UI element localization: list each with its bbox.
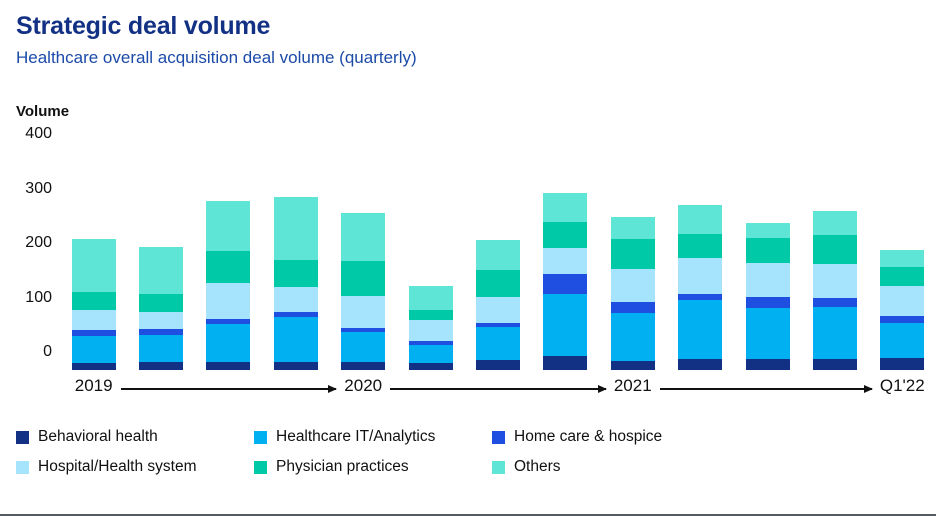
bar-segment[interactable] <box>746 359 790 370</box>
bar-slot <box>801 140 868 370</box>
bar-segment[interactable] <box>746 263 790 297</box>
x-axis-arrow-icon <box>660 388 872 390</box>
bar-segment[interactable] <box>409 363 453 370</box>
legend-item-label: Behavioral health <box>38 428 158 446</box>
bar-segment[interactable] <box>678 258 722 293</box>
bar-segment[interactable] <box>813 298 857 307</box>
x-axis-arrow-icon <box>390 388 606 390</box>
bar-segment[interactable] <box>139 335 183 362</box>
stacked-bar[interactable] <box>409 286 453 370</box>
bar-segment[interactable] <box>678 300 722 359</box>
legend-swatch-icon <box>16 431 29 444</box>
bar-segment[interactable] <box>746 308 790 359</box>
legend-swatch-icon <box>16 461 29 474</box>
bar-segment[interactable] <box>341 261 385 296</box>
stacked-bar[interactable] <box>543 193 587 370</box>
legend-item[interactable]: Behavioral health <box>16 428 254 446</box>
bar-segment[interactable] <box>746 238 790 263</box>
y-tick-label: 200 <box>0 234 52 252</box>
bar-segment[interactable] <box>274 317 318 362</box>
legend-item-label: Others <box>514 458 561 476</box>
bar-segment[interactable] <box>341 213 385 261</box>
bar-segment[interactable] <box>274 260 318 287</box>
bar-segment[interactable] <box>72 336 116 363</box>
bar-segment[interactable] <box>274 197 318 260</box>
bar-segment[interactable] <box>611 302 655 313</box>
bar-segment[interactable] <box>543 274 587 295</box>
x-axis-group-label: Q1'22 <box>880 376 925 396</box>
bar-slot <box>127 140 194 370</box>
chart-page: Strategic deal volume Healthcare overall… <box>0 0 936 516</box>
stacked-bar[interactable] <box>476 240 520 370</box>
bar-segment[interactable] <box>72 292 116 310</box>
stacked-bar[interactable] <box>341 213 385 370</box>
bar-segment[interactable] <box>476 360 520 370</box>
bar-segment[interactable] <box>139 294 183 312</box>
legend-item[interactable]: Home care & hospice <box>492 428 732 446</box>
bar-slot <box>667 140 734 370</box>
bar-segment[interactable] <box>813 264 857 297</box>
bar-segment[interactable] <box>678 205 722 234</box>
bar-slot <box>195 140 262 370</box>
bar-segment[interactable] <box>543 193 587 222</box>
legend-swatch-icon <box>492 431 505 444</box>
bar-segment[interactable] <box>611 239 655 269</box>
stacked-bar[interactable] <box>813 211 857 370</box>
bar-slot <box>397 140 464 370</box>
bar-segment[interactable] <box>206 324 250 362</box>
bar-segment[interactable] <box>409 310 453 320</box>
bar-segment[interactable] <box>476 240 520 270</box>
bar-slot <box>262 140 329 370</box>
x-axis: 201920202021Q1'22 <box>60 376 936 402</box>
bar-segment[interactable] <box>611 217 655 239</box>
legend-item-label: Home care & hospice <box>514 428 662 446</box>
legend-swatch-icon <box>254 431 267 444</box>
bar-segment[interactable] <box>611 313 655 361</box>
bar-segment[interactable] <box>543 356 587 370</box>
bar-segment[interactable] <box>813 307 857 359</box>
y-tick-label: 100 <box>0 289 52 307</box>
bar-segment[interactable] <box>813 359 857 370</box>
bar-segment[interactable] <box>678 359 722 370</box>
x-axis-arrow-icon <box>121 388 337 390</box>
bar-segment[interactable] <box>72 239 116 292</box>
bar-segment[interactable] <box>341 332 385 362</box>
stacked-bar[interactable] <box>72 239 116 370</box>
chart-legend: Behavioral healthHealthcare IT/Analytics… <box>16 428 916 476</box>
x-axis-group-label: 2021 <box>614 376 652 396</box>
legend-item[interactable]: Physician practices <box>254 458 492 476</box>
bar-slot <box>60 140 127 370</box>
bar-segment[interactable] <box>543 248 587 274</box>
bar-segment[interactable] <box>409 286 453 311</box>
y-tick-label: 300 <box>0 180 52 198</box>
bar-slot <box>464 140 531 370</box>
page-title: Strategic deal volume <box>16 12 270 41</box>
stacked-bar[interactable] <box>746 223 790 370</box>
bar-segment[interactable] <box>880 286 924 316</box>
bar-segment[interactable] <box>880 358 924 370</box>
bar-series-container <box>60 140 936 370</box>
bar-segment[interactable] <box>746 297 790 308</box>
bar-segment[interactable] <box>543 222 587 248</box>
bar-slot <box>734 140 801 370</box>
legend-item[interactable]: Others <box>492 458 732 476</box>
bar-segment[interactable] <box>611 361 655 370</box>
bar-segment[interactable] <box>746 223 790 238</box>
stacked-bar[interactable] <box>880 250 924 370</box>
bar-segment[interactable] <box>476 327 520 360</box>
bar-slot <box>532 140 599 370</box>
bar-segment[interactable] <box>409 345 453 363</box>
bar-segment[interactable] <box>206 283 250 319</box>
bar-segment[interactable] <box>139 247 183 293</box>
stacked-bar[interactable] <box>206 201 250 370</box>
y-tick-label: 400 <box>0 125 52 143</box>
bar-slot <box>869 140 936 370</box>
bar-segment[interactable] <box>611 269 655 302</box>
bar-segment[interactable] <box>880 250 924 267</box>
y-tick-label: 0 <box>0 343 52 361</box>
bar-segment[interactable] <box>72 310 116 330</box>
bar-segment[interactable] <box>678 234 722 259</box>
bar-segment[interactable] <box>139 362 183 370</box>
stacked-bar[interactable] <box>611 217 655 370</box>
bar-segment[interactable] <box>476 270 520 297</box>
stacked-bar[interactable] <box>678 205 722 370</box>
bar-segment[interactable] <box>206 362 250 370</box>
bar-segment[interactable] <box>880 323 924 358</box>
legend-item-label: Healthcare IT/Analytics <box>276 428 435 446</box>
bar-segment[interactable] <box>409 320 453 341</box>
legend-item[interactable]: Hospital/Health system <box>16 458 254 476</box>
bar-segment[interactable] <box>341 362 385 370</box>
legend-item[interactable]: Healthcare IT/Analytics <box>254 428 492 446</box>
legend-item-label: Physician practices <box>276 458 409 476</box>
bar-segment[interactable] <box>206 201 250 252</box>
bar-slot <box>330 140 397 370</box>
legend-swatch-icon <box>254 461 267 474</box>
bar-segment[interactable] <box>476 297 520 323</box>
page-subtitle: Healthcare overall acquisition deal volu… <box>16 48 417 68</box>
bar-segment[interactable] <box>813 235 857 264</box>
plot-area: 0100200300400 <box>60 140 936 370</box>
bar-segment[interactable] <box>274 362 318 370</box>
bar-segment[interactable] <box>341 296 385 328</box>
legend-swatch-icon <box>492 461 505 474</box>
bar-segment[interactable] <box>543 294 587 356</box>
y-axis-title: Volume <box>16 103 69 120</box>
bar-segment[interactable] <box>139 312 183 329</box>
bar-segment[interactable] <box>72 363 116 370</box>
x-axis-group-label: 2019 <box>75 376 113 396</box>
bar-segment[interactable] <box>206 251 250 283</box>
legend-item-label: Hospital/Health system <box>38 458 197 476</box>
bar-segment[interactable] <box>274 287 318 312</box>
stacked-bar[interactable] <box>274 197 318 370</box>
bar-slot <box>599 140 666 370</box>
bar-segment[interactable] <box>880 267 924 286</box>
stacked-bar[interactable] <box>139 247 183 370</box>
x-axis-group-label: 2020 <box>344 376 382 396</box>
bar-segment[interactable] <box>813 211 857 236</box>
